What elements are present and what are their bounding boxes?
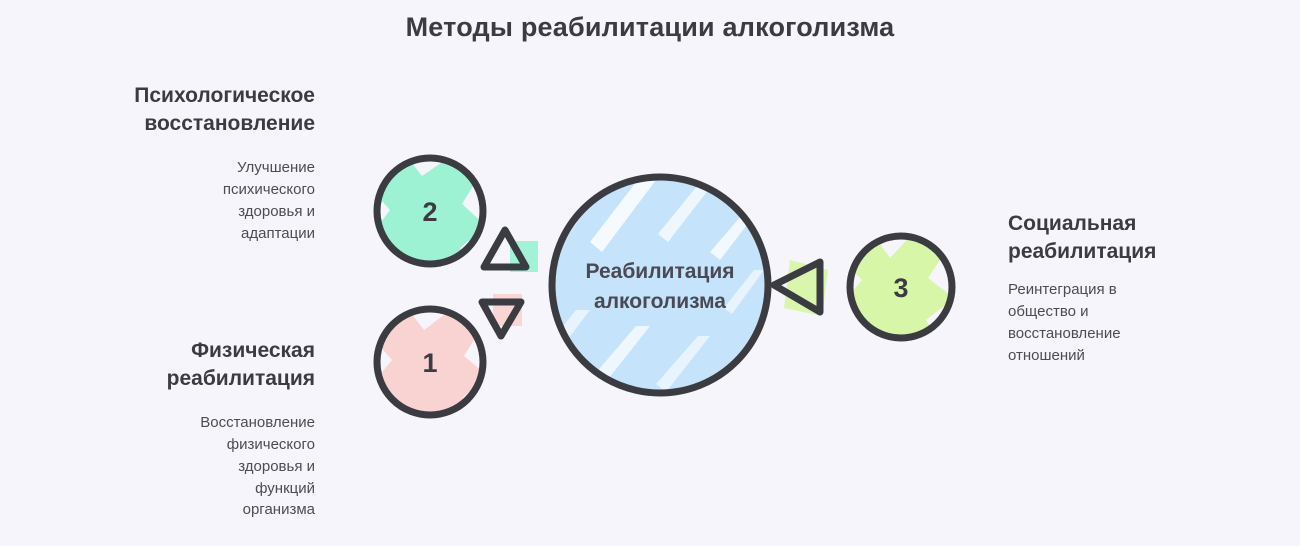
arrow-left-icon bbox=[774, 260, 828, 316]
heading-line: Социальная bbox=[1008, 210, 1258, 238]
center-node[interactable]: Реабилитация алкоголизма bbox=[522, 164, 768, 404]
body-psychological: Улучшение психического здоровья и адапта… bbox=[40, 157, 315, 244]
body-line: здоровья и bbox=[40, 456, 315, 478]
node-circle-2[interactable]: 2 bbox=[372, 154, 486, 270]
body-line: Восстановление bbox=[40, 412, 315, 434]
body-line: восстановление bbox=[1008, 323, 1258, 345]
body-line: здоровья и bbox=[40, 201, 315, 223]
body-physical: Восстановление физического здоровья и фу… bbox=[40, 412, 315, 521]
node-circle-3[interactable]: 3 bbox=[844, 230, 954, 346]
body-line: общество и bbox=[1008, 301, 1258, 323]
heading-line: восстановление bbox=[40, 110, 315, 138]
diagram-area: 2 1 3 bbox=[350, 130, 1010, 430]
text-block-psychological: Психологическое восстановление Улучшение… bbox=[40, 82, 315, 244]
body-line: психического bbox=[40, 179, 315, 201]
heading-line: Психологическое bbox=[40, 82, 315, 110]
text-block-physical: Физическая реабилитация Восстановление ф… bbox=[40, 337, 315, 521]
heading-line: реабилитация bbox=[1008, 238, 1258, 266]
center-label-line2: алкоголизма bbox=[594, 290, 726, 313]
body-line: Улучшение bbox=[40, 157, 315, 179]
arrow-down-icon bbox=[482, 294, 522, 336]
body-social: Реинтеграция в общество и восстановление… bbox=[1008, 279, 1258, 366]
body-line: Реинтеграция в bbox=[1008, 279, 1258, 301]
text-block-social: Социальная реабилитация Реинтеграция в о… bbox=[1008, 210, 1258, 366]
node-1-number: 1 bbox=[422, 348, 437, 378]
heading-physical: Физическая реабилитация bbox=[40, 337, 315, 392]
heading-line: Физическая bbox=[40, 337, 315, 365]
body-line: функций bbox=[40, 478, 315, 500]
body-line: организма bbox=[40, 499, 315, 521]
node-circle-1[interactable]: 1 bbox=[372, 306, 488, 422]
node-3-number: 3 bbox=[893, 273, 908, 303]
heading-line: реабилитация bbox=[40, 365, 315, 393]
body-line: отношений bbox=[1008, 345, 1258, 367]
body-line: физического bbox=[40, 434, 315, 456]
arrow-up-icon bbox=[484, 230, 538, 272]
infographic-canvas: Методы реабилитации алкоголизма Психолог… bbox=[0, 0, 1300, 546]
heading-social: Социальная реабилитация bbox=[1008, 210, 1258, 265]
body-line: адаптации bbox=[40, 223, 315, 245]
node-2-number: 2 bbox=[422, 197, 437, 227]
center-label-line1: Реабилитация bbox=[585, 260, 734, 283]
page-title: Методы реабилитации алкоголизма bbox=[0, 12, 1300, 43]
heading-psychological: Психологическое восстановление bbox=[40, 82, 315, 137]
